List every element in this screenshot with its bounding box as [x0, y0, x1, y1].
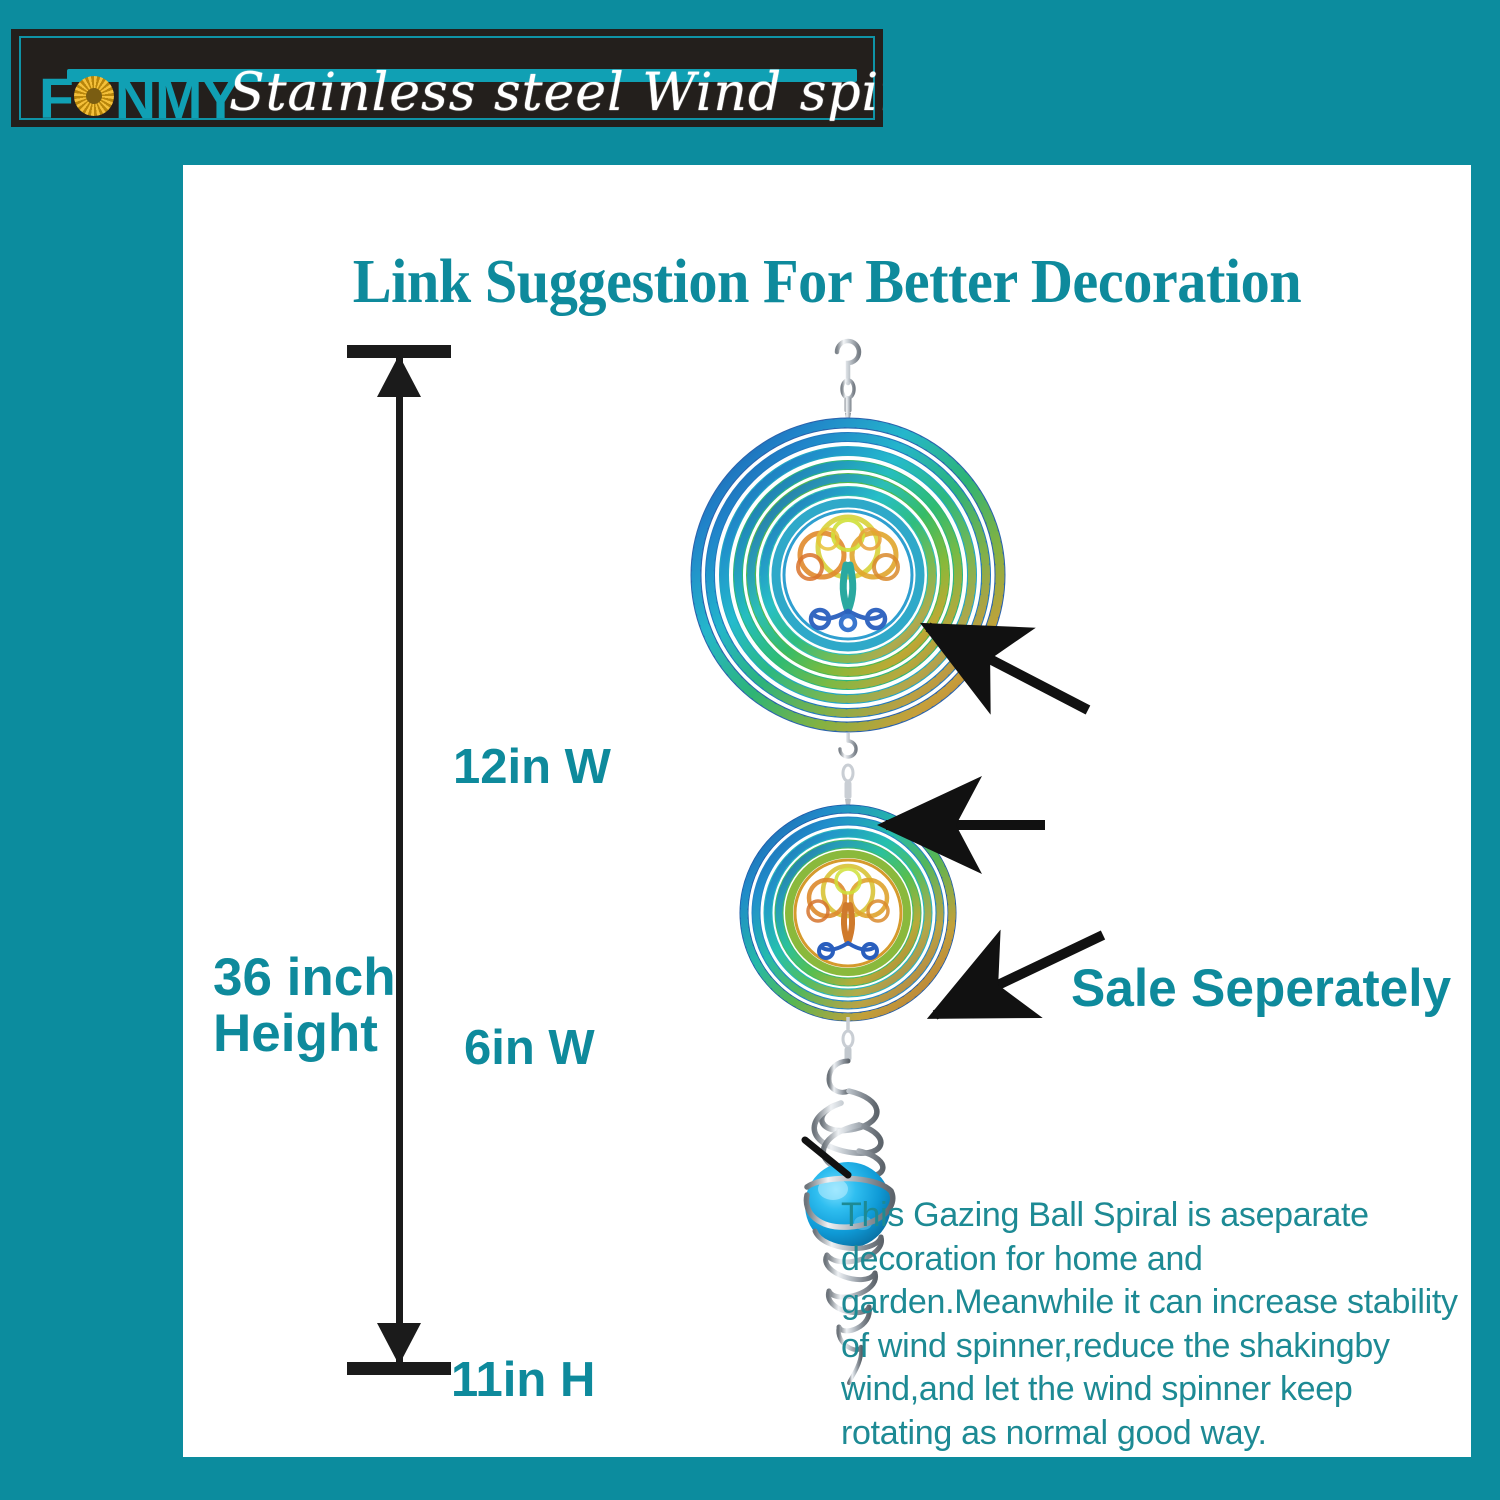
s-hook-icon	[820, 337, 876, 421]
spinner-connector-link	[833, 733, 863, 809]
brand-banner: F NMY Stainless steel Wind spinner	[8, 26, 886, 130]
label-large-spinner-width: 12in W	[453, 742, 611, 794]
label-overall-height-line1: 36 inch	[213, 950, 396, 1006]
tree-of-life-wind-spinner-6in	[738, 803, 958, 1023]
ruler-shaft	[396, 355, 403, 1365]
brand-logo: F NMY	[39, 71, 239, 128]
ruler-arrowhead-down-icon	[377, 1323, 421, 1365]
label-spiral-height: 11in H	[451, 1355, 595, 1407]
ruler-cap-bottom	[347, 1362, 451, 1375]
overall-height-ruler	[347, 345, 457, 1375]
infographic-stage: F NMY Stainless steel Wind spinner Link …	[0, 0, 1500, 1500]
tree-of-life-wind-spinner-12in	[688, 415, 1008, 735]
brand-logo-letters-rest: NMY	[115, 71, 239, 128]
label-sale-separately: Sale Seperately	[1071, 961, 1451, 1017]
brand-logo-letter-f: F	[39, 71, 73, 128]
label-overall-height-line2: Height	[213, 1006, 396, 1062]
label-overall-height: 36 inch Height	[213, 950, 396, 1062]
gazing-ball-description: This Gazing Ball Spiral is aseparate dec…	[841, 1194, 1461, 1455]
spiral-top-loop	[829, 1061, 849, 1092]
page-title: Link Suggestion For Better Decoration	[222, 247, 1433, 318]
content-panel: Link Suggestion For Better Decoration 12…	[183, 165, 1471, 1457]
ruler-arrowhead-up-icon	[377, 355, 421, 397]
sunflower-core	[86, 88, 102, 104]
sunflower-icon	[74, 76, 114, 116]
label-small-spinner-width: 6in W	[464, 1023, 595, 1075]
brand-tagline: Stainless steel Wind spinner	[229, 63, 886, 123]
